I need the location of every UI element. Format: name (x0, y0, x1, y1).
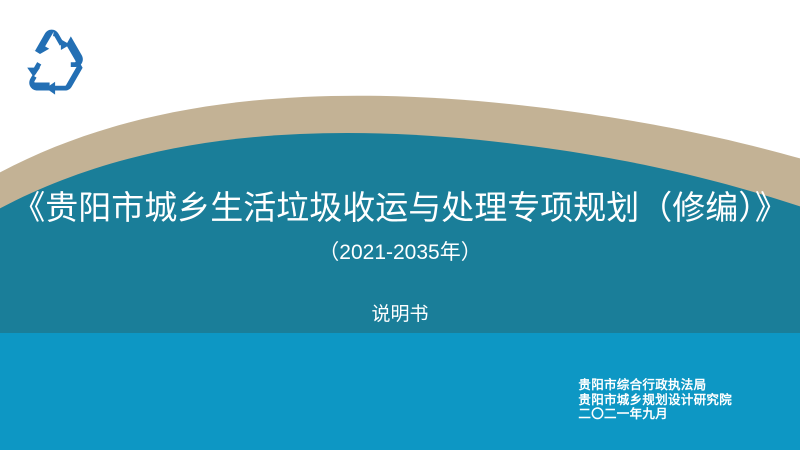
footer-line-date: 二〇二一年九月 (578, 407, 732, 422)
footer-line-issuer: 贵阳市综合行政执法局 (578, 378, 732, 393)
page-title: 《贵阳市城乡生活垃圾收运与处理专项规划（修编）》 (0, 186, 800, 230)
footer-line-institute: 贵阳市城乡规划设计研究院 (578, 393, 732, 408)
recycling-icon (24, 26, 88, 98)
title-block: 《贵阳市城乡生活垃圾收运与处理专项规划（修编）》 （2021-2035年） (0, 186, 800, 268)
document-kind-label: 说明书 (0, 302, 800, 328)
page-subtitle: （2021-2035年） (0, 238, 800, 268)
footer-block: 贵阳市综合行政执法局 贵阳市城乡规划设计研究院 二〇二一年九月 (578, 378, 732, 422)
cover-slide: 《贵阳市城乡生活垃圾收运与处理专项规划（修编）》 （2021-2035年） 说明… (0, 0, 800, 450)
